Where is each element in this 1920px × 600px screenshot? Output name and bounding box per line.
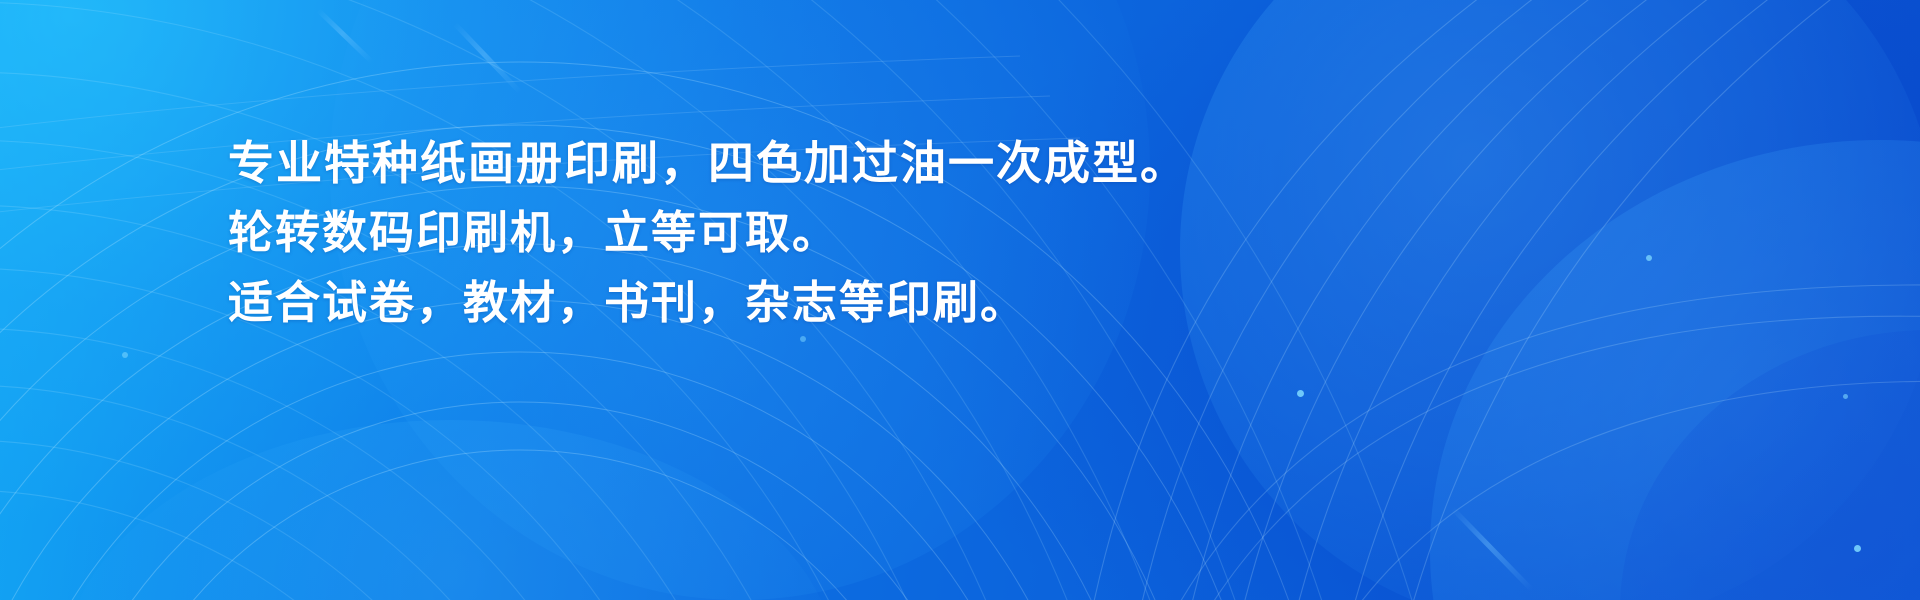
promo-banner: 专业特种纸画册印刷，四色加过油一次成型。 轮转数码印刷机，立等可取。 适合试卷，… [0, 0, 1920, 600]
headline-line-1: 专业特种纸画册印刷，四色加过油一次成型。 [228, 128, 1608, 198]
headline-line-2: 轮转数码印刷机，立等可取。 [228, 198, 1608, 268]
headline-line-3: 适合试卷，教材，书刊，杂志等印刷。 [228, 268, 1608, 338]
banner-headline: 专业特种纸画册印刷，四色加过油一次成型。 轮转数码印刷机，立等可取。 适合试卷，… [228, 128, 1608, 338]
